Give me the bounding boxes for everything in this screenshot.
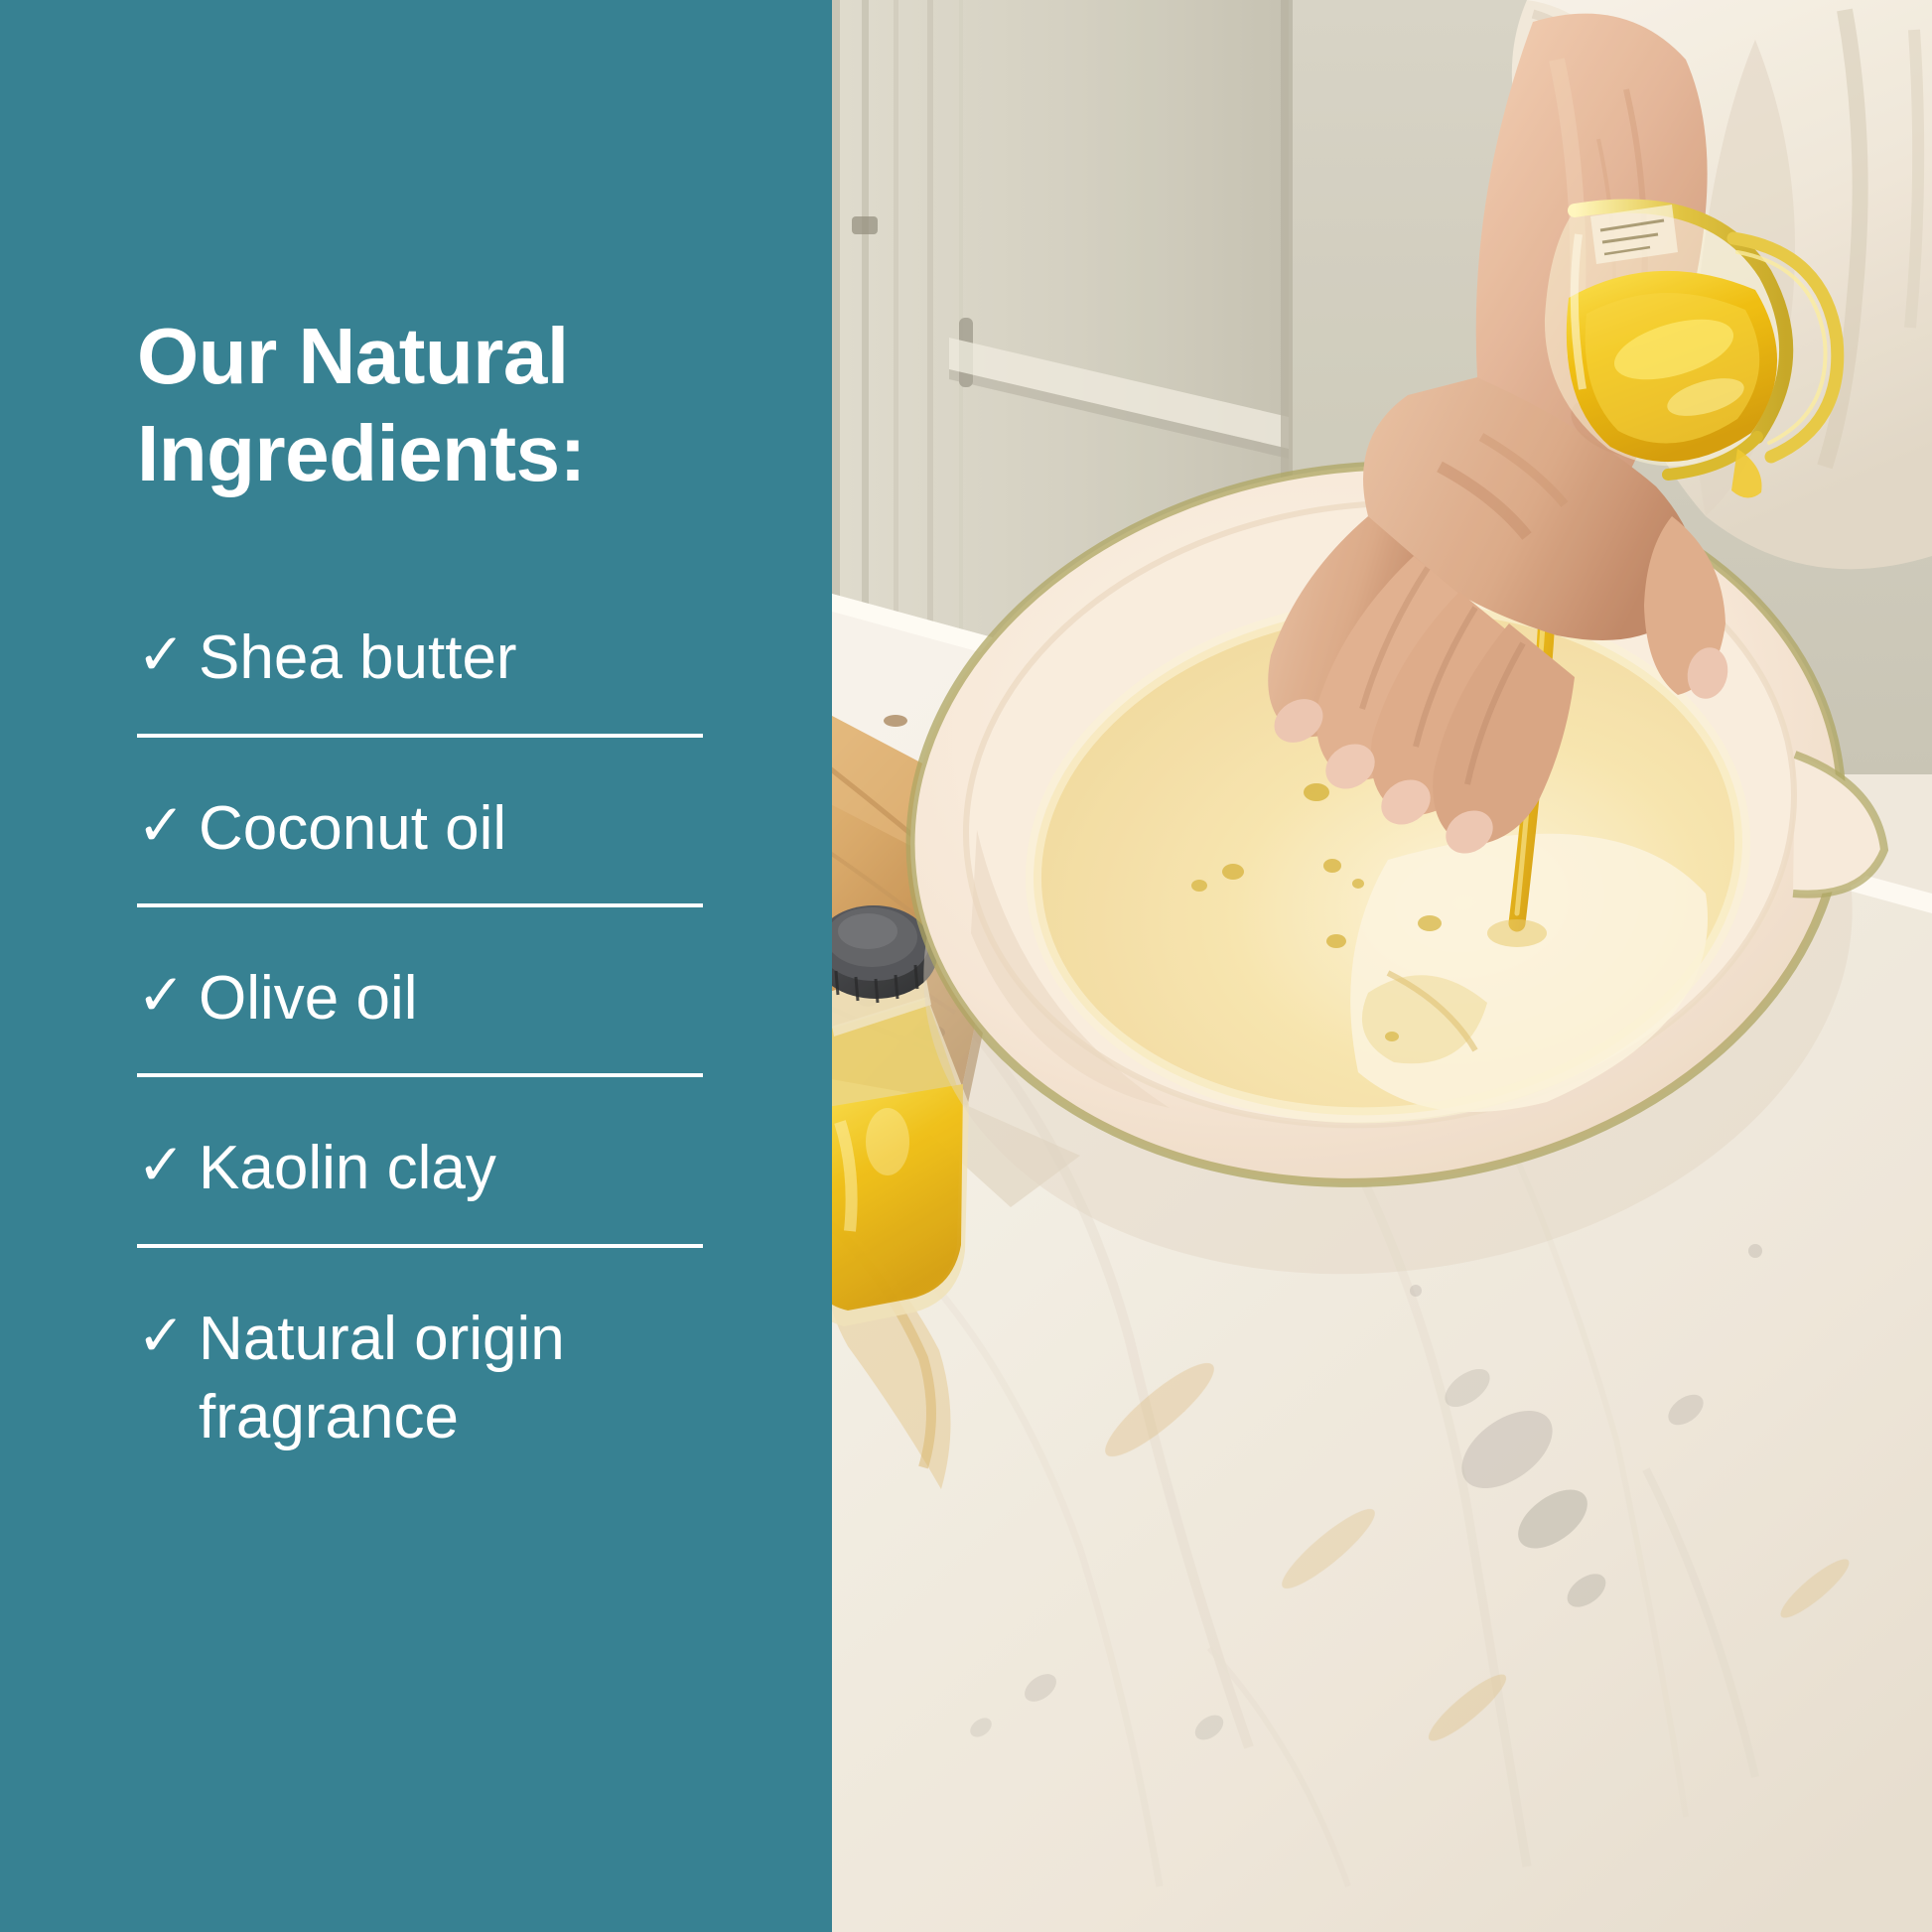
- ingredient-label: Natural origin fragrance: [199, 1300, 665, 1457]
- check-icon: ✓: [137, 789, 199, 863]
- check-icon: ✓: [137, 1129, 199, 1202]
- ingredients-info-panel: Our Natural Ingredients: ✓ Shea butter ✓…: [0, 0, 832, 1932]
- ingredient-label: Coconut oil: [199, 789, 665, 868]
- ingredient-list: ✓ Shea butter ✓ Coconut oil ✓ Olive oil …: [137, 619, 703, 1456]
- ingredient-label: Shea butter: [199, 619, 665, 697]
- list-item: ✓ Natural origin fragrance: [137, 1300, 703, 1457]
- page-title: Our Natural Ingredients:: [137, 0, 693, 501]
- ingredient-label: Kaolin clay: [199, 1129, 665, 1207]
- list-item: ✓ Coconut oil: [137, 789, 703, 907]
- ingredient-label: Olive oil: [199, 959, 665, 1037]
- photo-illustration: [832, 0, 1932, 1932]
- check-icon: ✓: [137, 619, 199, 692]
- list-item: ✓ Olive oil: [137, 959, 703, 1077]
- ingredients-promo-card: Our Natural Ingredients: ✓ Shea butter ✓…: [0, 0, 1932, 1932]
- list-item: ✓ Kaolin clay: [137, 1129, 703, 1247]
- check-icon: ✓: [137, 1300, 199, 1373]
- check-icon: ✓: [137, 959, 199, 1033]
- soap-making-photo: [832, 0, 1932, 1932]
- list-item: ✓ Shea butter: [137, 619, 703, 737]
